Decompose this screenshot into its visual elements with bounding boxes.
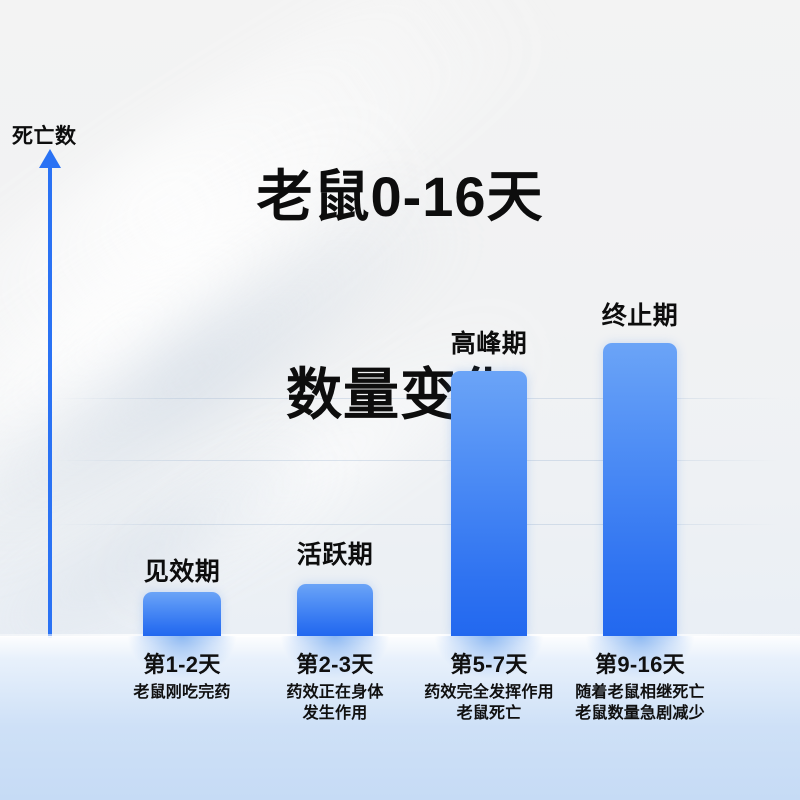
chart-bar [297, 584, 373, 636]
chart-bar [451, 371, 527, 636]
bar-stage-label: 终止期 [578, 296, 702, 332]
infographic-poster: 老鼠0-16天 数量变化 死亡数 见效期活跃期高峰期终止期 第1-2天老鼠刚吃完… [0, 0, 800, 800]
page-title-line-2: 数量变化 [0, 362, 800, 428]
chart-bar [143, 592, 221, 636]
bar-stage-label: 活跃期 [273, 535, 397, 571]
category-description: 随着老鼠相继死亡 老鼠数量急剧减少 [530, 682, 750, 724]
bar-stage-label: 高峰期 [427, 324, 551, 360]
baseline [0, 634, 800, 637]
category-period: 第9-16天 [530, 650, 750, 680]
category-caption: 第9-16天随着老鼠相继死亡 老鼠数量急剧减少 [530, 650, 750, 724]
y-axis-label: 死亡数 [12, 120, 77, 150]
bar-stage-label: 见效期 [120, 552, 244, 588]
page-title-line-1: 老鼠0-16天 [0, 164, 800, 230]
chart-bar [603, 343, 677, 636]
y-axis-line [48, 156, 52, 638]
